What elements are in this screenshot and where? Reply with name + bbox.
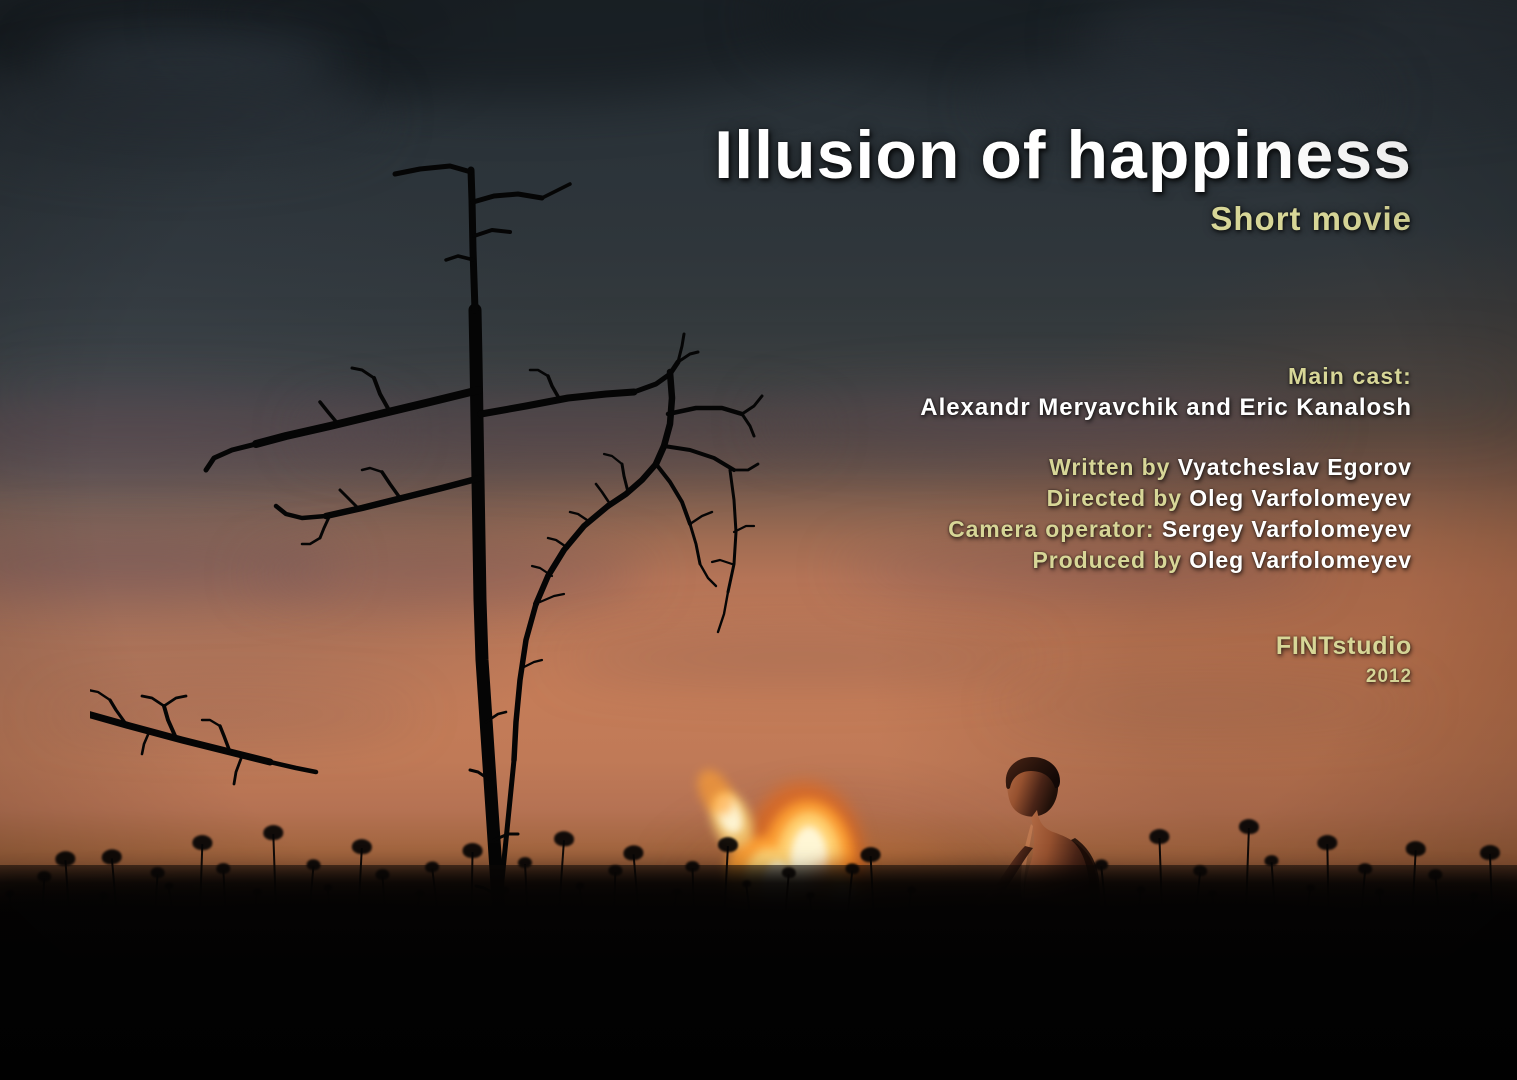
credit-camera-operator: Camera operator: Sergey Varfolomeyev <box>948 516 1412 543</box>
credit-written-by: Written by Vyatcheslav Egorov <box>1049 454 1412 481</box>
main-cast-names: Alexandr Meryavchik and Eric Kanalosh <box>920 394 1412 422</box>
credit-person-name: Oleg Varfolomeyev <box>1189 547 1412 573</box>
movie-poster: Illusion of happiness Short movie Main c… <box>0 0 1517 1080</box>
credit-produced-by: Produced by Oleg Varfolomeyev <box>1033 547 1412 574</box>
credit-role-label: Produced by <box>1033 547 1182 573</box>
credit-role-label: Written by <box>1049 454 1170 480</box>
studio-name: FINTstudio <box>1276 632 1412 661</box>
credit-person-name: Oleg Varfolomeyev <box>1189 485 1412 511</box>
main-cast-label: Main cast: <box>1288 363 1412 390</box>
credit-person-name: Sergey Varfolomeyev <box>1162 516 1412 542</box>
credit-role-label: Camera operator: <box>948 516 1154 542</box>
subtitle: Short movie <box>1210 200 1412 238</box>
year-label: 2012 <box>1366 666 1412 688</box>
credit-directed-by: Directed by Oleg Varfolomeyev <box>1047 485 1412 512</box>
credit-person-name: Vyatcheslav Egorov <box>1178 454 1412 480</box>
page-title: Illusion of happiness <box>714 116 1412 194</box>
credit-role-label: Directed by <box>1047 485 1182 511</box>
